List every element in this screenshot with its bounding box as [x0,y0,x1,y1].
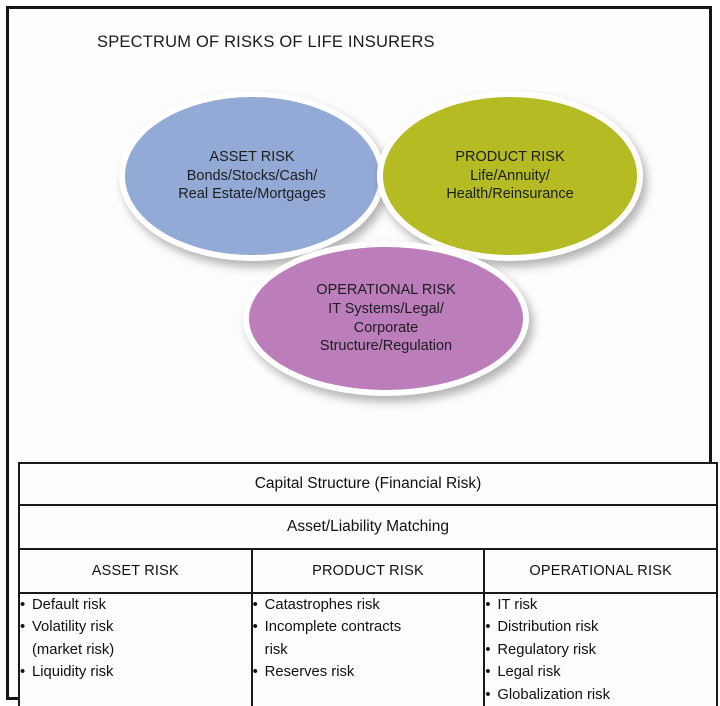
venn-asset-heading: ASSET RISK [178,148,326,167]
list-product-risks: Catastrophes riskIncomplete contracts ri… [253,594,484,684]
list-asset-risks: Default riskVolatility risk (market risk… [20,594,251,684]
column-header-operational-risk: OPERATIONAL RISK [484,549,717,593]
band-capital-structure: Capital Structure (Financial Risk) [19,463,717,505]
list-item: Reserves risk [253,661,484,683]
table-row-asset-liability: Asset/Liability Matching [19,505,717,549]
list-item: Legal risk [485,661,716,683]
list-item: Distribution risk [485,616,716,638]
venn-asset-line1: Bonds/Stocks/Cash/ [178,167,326,186]
venn-asset-text: ASSET RISK Bonds/Stocks/Cash/ Real Estat… [168,148,336,205]
column-header-product-risk: PRODUCT RISK [252,549,485,593]
venn-diagram: ASSET RISK Bonds/Stocks/Cash/ Real Estat… [15,59,720,459]
risk-breakdown-table: Capital Structure (Financial Risk) Asset… [18,462,718,706]
venn-product-line1: Life/Annuity/ [446,167,573,186]
figure-title: SPECTRUM OF RISKS OF LIFE INSURERS [97,33,435,52]
venn-product-heading: PRODUCT RISK [446,148,573,167]
list-item: Incomplete contracts risk [253,616,484,661]
list-item: Volatility risk (market risk) [20,616,251,661]
risk-spectrum-figure: SPECTRUM OF RISKS OF LIFE INSURERS ASSET… [0,0,720,706]
venn-ellipse-operational-risk: OPERATIONAL RISK IT Systems/Legal/ Corpo… [243,241,529,396]
venn-asset-line2: Real Estate/Mortgages [178,185,326,204]
table-row-capital-structure: Capital Structure (Financial Risk) [19,463,717,505]
venn-ellipse-product-risk: PRODUCT RISK Life/Annuity/ Health/Reinsu… [377,91,643,261]
venn-operational-line2: Corporate [316,319,455,338]
table-row-column-headers: ASSET RISK PRODUCT RISK OPERATIONAL RISK [19,549,717,593]
list-item: Catastrophes risk [253,594,484,616]
list-operational-risks: IT riskDistribution riskRegulatory riskL… [485,594,716,706]
venn-product-line2: Health/Reinsurance [446,185,573,204]
list-item: Default risk [20,594,251,616]
venn-operational-line3: Structure/Regulation [316,337,455,356]
column-header-asset-risk: ASSET RISK [19,549,252,593]
list-item: IT risk [485,594,716,616]
band-asset-liability-matching: Asset/Liability Matching [19,505,717,549]
venn-ellipse-asset-risk: ASSET RISK Bonds/Stocks/Cash/ Real Estat… [119,91,385,261]
venn-operational-heading: OPERATIONAL RISK [316,281,455,300]
cell-operational-risk-items: IT riskDistribution riskRegulatory riskL… [484,593,717,706]
table-row-risk-lists: Default riskVolatility risk (market risk… [19,593,717,706]
venn-product-text: PRODUCT RISK Life/Annuity/ Health/Reinsu… [436,148,583,205]
list-item: Liquidity risk [20,661,251,683]
list-item: Globalization risk [485,684,716,706]
figure-frame: SPECTRUM OF RISKS OF LIFE INSURERS ASSET… [6,6,712,700]
venn-operational-line1: IT Systems/Legal/ [316,300,455,319]
cell-product-risk-items: Catastrophes riskIncomplete contracts ri… [252,593,485,706]
venn-operational-text: OPERATIONAL RISK IT Systems/Legal/ Corpo… [306,281,465,356]
cell-asset-risk-items: Default riskVolatility risk (market risk… [19,593,252,706]
list-item: Regulatory risk [485,639,716,661]
